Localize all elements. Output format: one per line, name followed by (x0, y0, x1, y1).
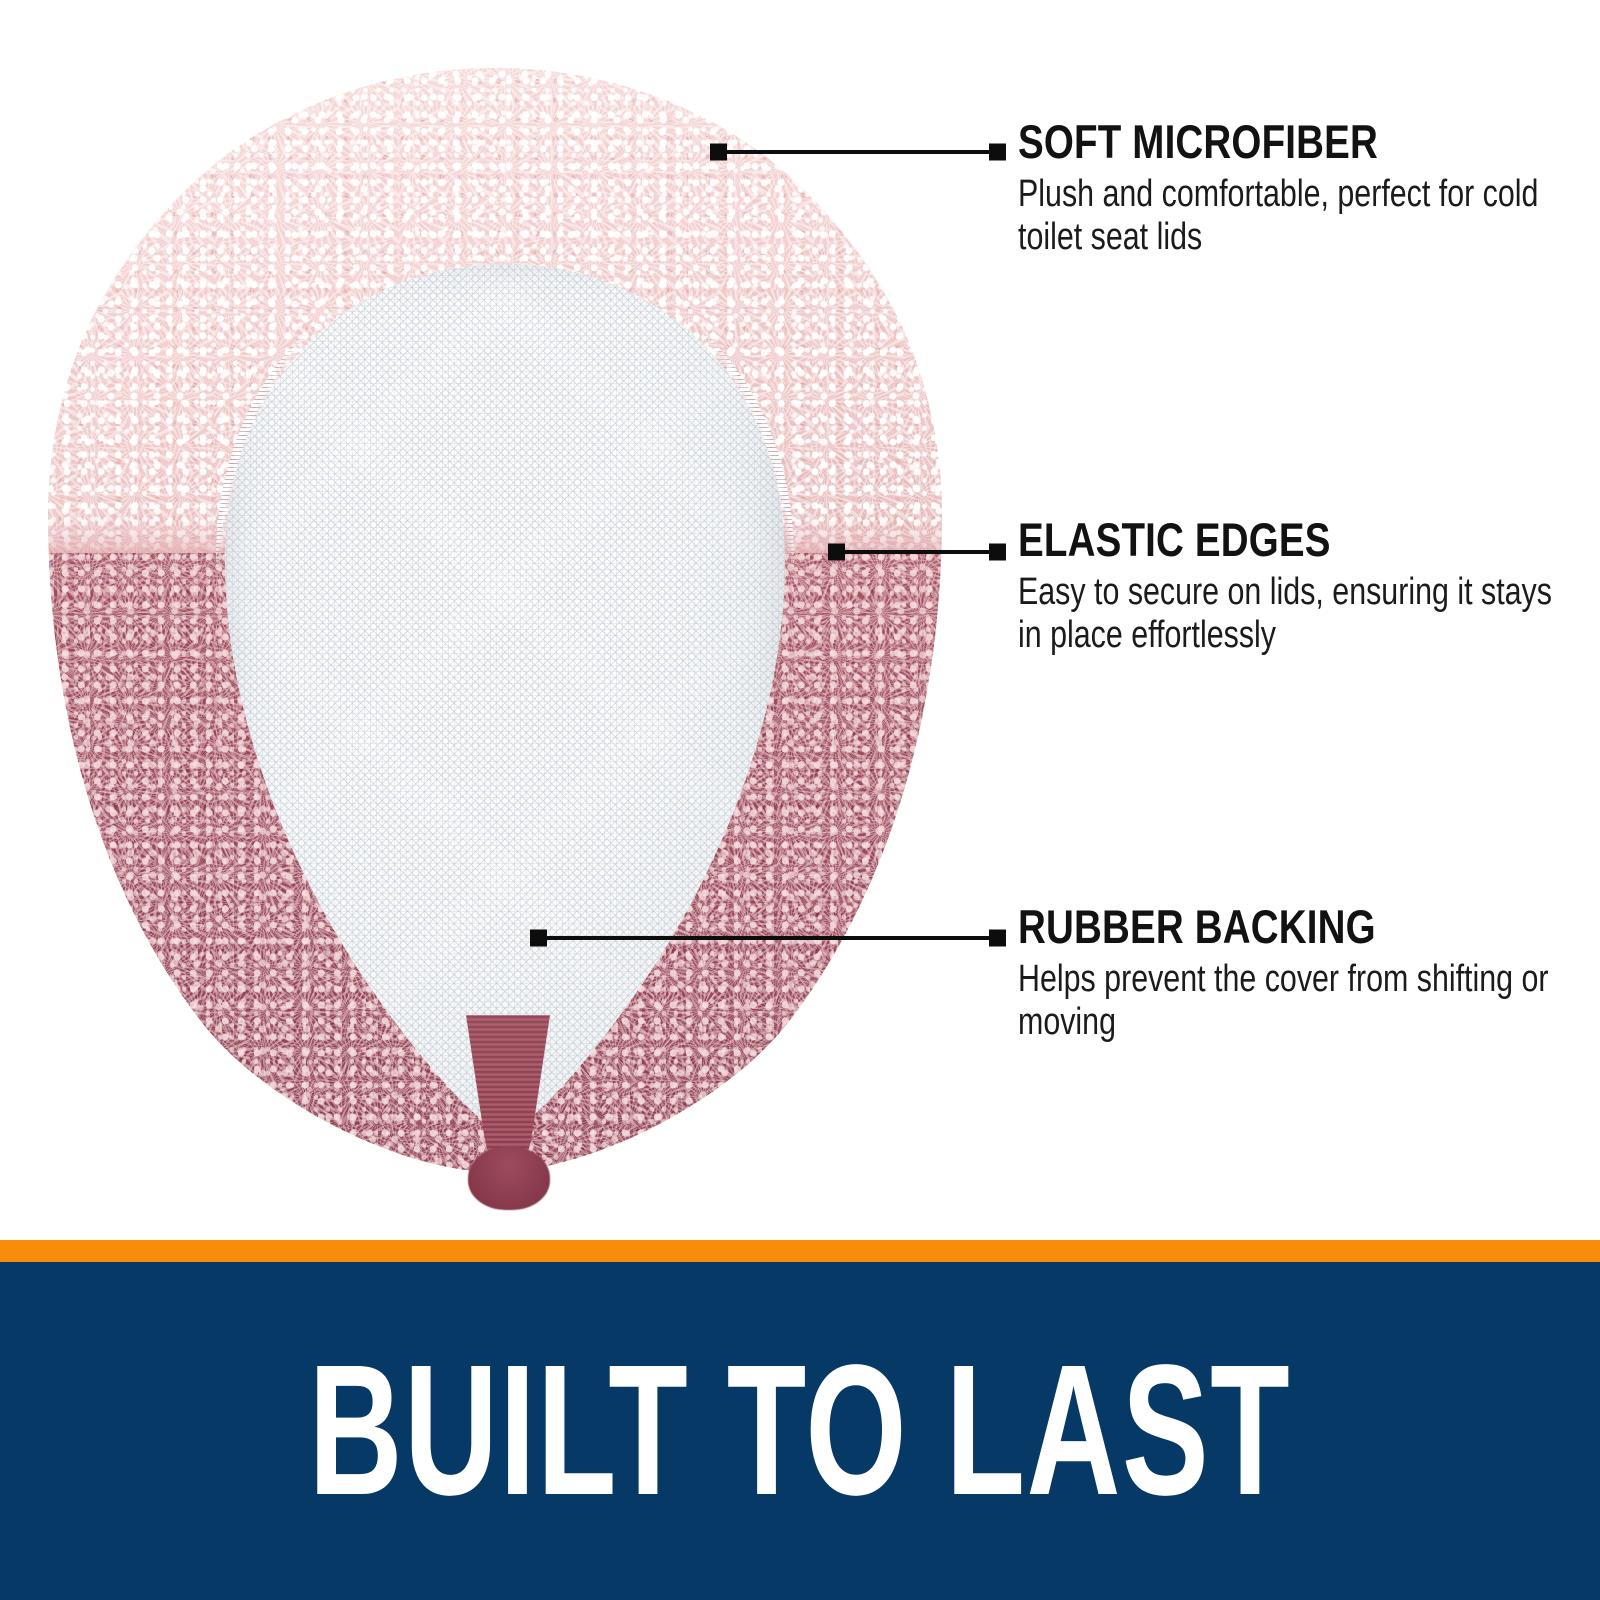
leader-cap-end (989, 544, 1006, 561)
callout-description-elastic-edges: Easy to secure on lids, ensuring it stay… (1018, 571, 1578, 658)
leader-line-elastic-edges (828, 550, 1006, 554)
callout-rubber-backing: RUBBER BACKING Helps prevent the cover f… (1018, 903, 1600, 1045)
leader-line-rubber-backing (530, 936, 1006, 940)
callout-elastic-edges: ELASTIC EDGES Easy to secure on lids, en… (1018, 516, 1600, 658)
toilet-seat-lid-cover (30, 60, 960, 1180)
callout-description-soft-microfiber: Plush and comfortable, perfect for cold … (1018, 173, 1578, 260)
callout-title-elastic-edges: ELASTIC EDGES (1018, 516, 1592, 563)
bottom-banner: BUILT TO LAST (0, 1262, 1600, 1600)
orange-accent-stripe (0, 1240, 1600, 1262)
leader-cap-end (989, 144, 1006, 161)
leader-line-soft-microfiber (710, 150, 1006, 154)
bottom-elastic-gather (468, 1146, 550, 1210)
banner-headline: BUILT TO LAST (309, 1338, 1292, 1524)
leader-cap-start (530, 930, 547, 947)
callout-title-soft-microfiber: SOFT MICROFIBER (1018, 118, 1592, 165)
infographic-canvas: SOFT MICROFIBER Plush and comfortable, p… (0, 0, 1600, 1600)
leader-cap-end (989, 930, 1006, 947)
callout-soft-microfiber: SOFT MICROFIBER Plush and comfortable, p… (1018, 118, 1600, 260)
leader-cap-start (828, 544, 845, 561)
callout-title-rubber-backing: RUBBER BACKING (1018, 903, 1592, 950)
leader-cap-start (710, 144, 727, 161)
callout-description-rubber-backing: Helps prevent the cover from shifting or… (1018, 958, 1578, 1045)
product-image-area (0, 0, 1000, 1230)
